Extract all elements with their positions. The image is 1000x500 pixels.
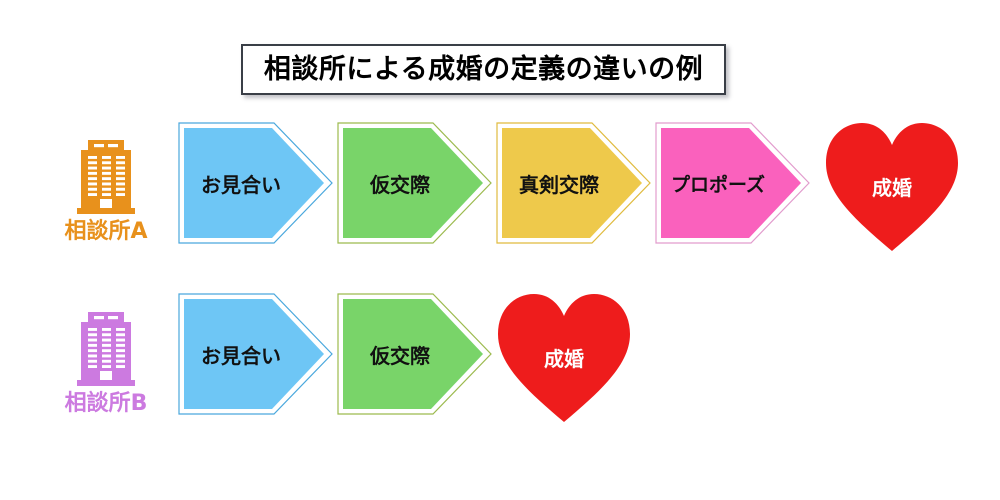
chevron-shape [655,122,810,244]
chevron-shape [337,293,492,415]
step-chevron[interactable]: 仮交際 [337,122,492,244]
org-label: 相談所A [36,220,176,243]
diagram-canvas: 相談所による成婚の定義の違いの例 相談所Aお見合い仮交際真剣交際プロポーズ成婚相… [0,0,1000,500]
step-chevron[interactable]: プロポーズ [655,122,810,244]
org-block-b[interactable]: 相談所B [36,300,176,415]
step-chevron[interactable]: お見合い [178,293,333,415]
building-icon [75,128,137,216]
step-chevron[interactable]: 真剣交際 [496,122,651,244]
step-chevron[interactable]: 仮交際 [337,293,492,415]
page-title: 相談所による成婚の定義の違いの例 [264,56,703,83]
step-heart-seikon[interactable]: 成婚 [824,119,960,253]
step-heart-seikon[interactable]: 成婚 [496,290,632,424]
diagram-title-box: 相談所による成婚の定義の違いの例 [241,44,726,95]
heart-shape [496,290,632,424]
heart-shape [824,119,960,253]
chevron-shape [178,293,333,415]
chevron-shape [337,122,492,244]
org-block-a[interactable]: 相談所A [36,128,176,243]
org-label: 相談所B [36,392,176,415]
step-chevron[interactable]: お見合い [178,122,333,244]
chevron-shape [178,122,333,244]
chevron-shape [496,122,651,244]
building-icon [75,300,137,388]
